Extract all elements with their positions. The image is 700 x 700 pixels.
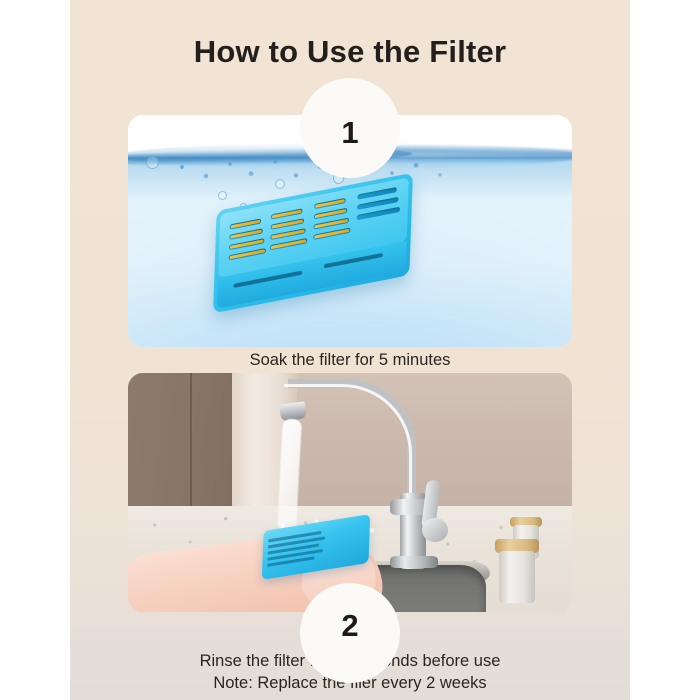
bubble-icon [146, 156, 159, 169]
step-2-image [128, 373, 572, 612]
bubble-icon [218, 191, 227, 200]
faucet-base [390, 556, 438, 568]
bubble-icon [275, 179, 285, 189]
infographic-page: How to Use the Filter [0, 0, 700, 700]
jar-large [499, 551, 535, 603]
step-1-number: 1 [341, 115, 358, 151]
page-title: How to Use the Filter [70, 34, 630, 70]
sink-rinse-scene [128, 373, 572, 612]
step-1-badge: 1 [300, 78, 400, 178]
cabinet-panel [128, 373, 241, 515]
step-2-badge: 2 [300, 583, 400, 683]
faucet-handle-joint [422, 518, 448, 542]
surface-foam-bubbles [158, 155, 458, 185]
cabinet-seam [190, 373, 192, 515]
step-2-number: 2 [341, 608, 358, 644]
step-1-caption: Soak the filter for 5 minutes [70, 351, 630, 370]
